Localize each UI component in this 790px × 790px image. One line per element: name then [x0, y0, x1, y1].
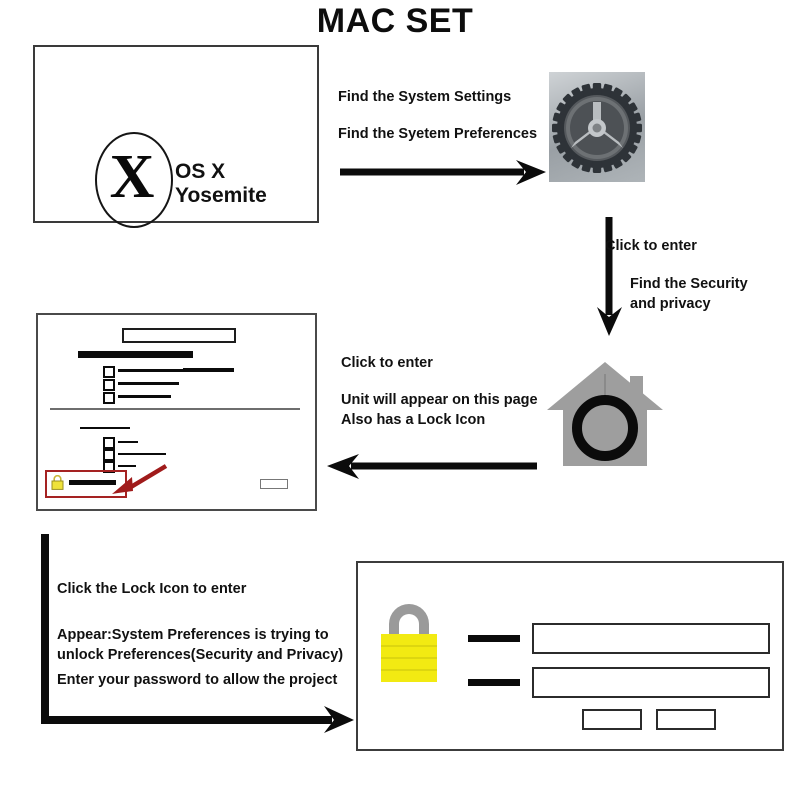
arrow-left-to-preferences	[325, 452, 539, 480]
note-unit-will-appear: Unit will appear on this page Also has a…	[341, 390, 538, 430]
prefs-checkbox-4-label	[118, 441, 138, 443]
padlock-icon	[375, 600, 443, 682]
prefs-checkbox-1[interactable]	[103, 366, 115, 378]
note-click-to-enter-middle: Click to enter	[341, 353, 433, 373]
os-x-yosemite-box: X OS X Yosemite	[33, 45, 319, 223]
dialog-cancel-button[interactable]	[582, 709, 642, 730]
os-x-yosemite-label: OS X Yosemite	[175, 160, 317, 208]
page-title: MAC SET	[0, 2, 790, 41]
note-enter-password: Enter your password to allow the project	[57, 670, 337, 690]
dialog-field-1[interactable]	[532, 623, 770, 654]
x-logo-letter: X	[95, 131, 169, 223]
prefs-checkbox-5[interactable]	[103, 449, 115, 461]
prefs-side-label	[183, 368, 234, 372]
note-click-to-enter-top: Click to enter	[605, 236, 697, 256]
security-privacy-house-tile[interactable]	[545, 358, 665, 470]
prefs-bottom-button[interactable]	[260, 479, 288, 489]
note-click-lock-icon: Click the Lock Icon to enter	[57, 579, 246, 599]
dialog-field-2-label	[468, 679, 520, 686]
prefs-checkbox-2-label	[118, 382, 179, 385]
arrow-down-to-house	[596, 215, 626, 337]
prefs-section2-heading	[80, 427, 130, 429]
note-find-system-preferences: Find the Syetem Preferences	[338, 124, 537, 144]
prefs-checkbox-1-label	[118, 369, 192, 372]
prefs-title-field[interactable]	[122, 328, 236, 343]
note-find-security-privacy: Find the Security and privacy	[630, 274, 748, 314]
prefs-checkbox-3-label	[118, 395, 171, 398]
dialog-ok-button[interactable]	[656, 709, 716, 730]
prefs-checkbox-3[interactable]	[103, 392, 115, 404]
system-preferences-gear-tile[interactable]	[549, 72, 645, 182]
password-dialog[interactable]	[356, 561, 784, 751]
house-icon	[545, 358, 665, 470]
dialog-field-2[interactable]	[532, 667, 770, 698]
note-appear-system-preferences: Appear:System Preferences is trying to u…	[57, 625, 343, 665]
prefs-section-heading-bar	[78, 351, 193, 358]
red-pointer-arrow-to-lock	[108, 462, 170, 498]
arrow-right-to-gear	[338, 158, 548, 186]
prefs-checkbox-4[interactable]	[103, 437, 115, 449]
lock-icon[interactable]	[51, 475, 64, 490]
prefs-separator	[50, 408, 300, 410]
security-privacy-preferences-window[interactable]	[36, 313, 317, 511]
dialog-field-1-label	[468, 635, 520, 642]
note-find-system-settings: Find the System Settings	[338, 87, 511, 107]
gear-icon	[549, 72, 645, 182]
prefs-checkbox-2[interactable]	[103, 379, 115, 391]
prefs-checkbox-5-label	[118, 453, 166, 455]
